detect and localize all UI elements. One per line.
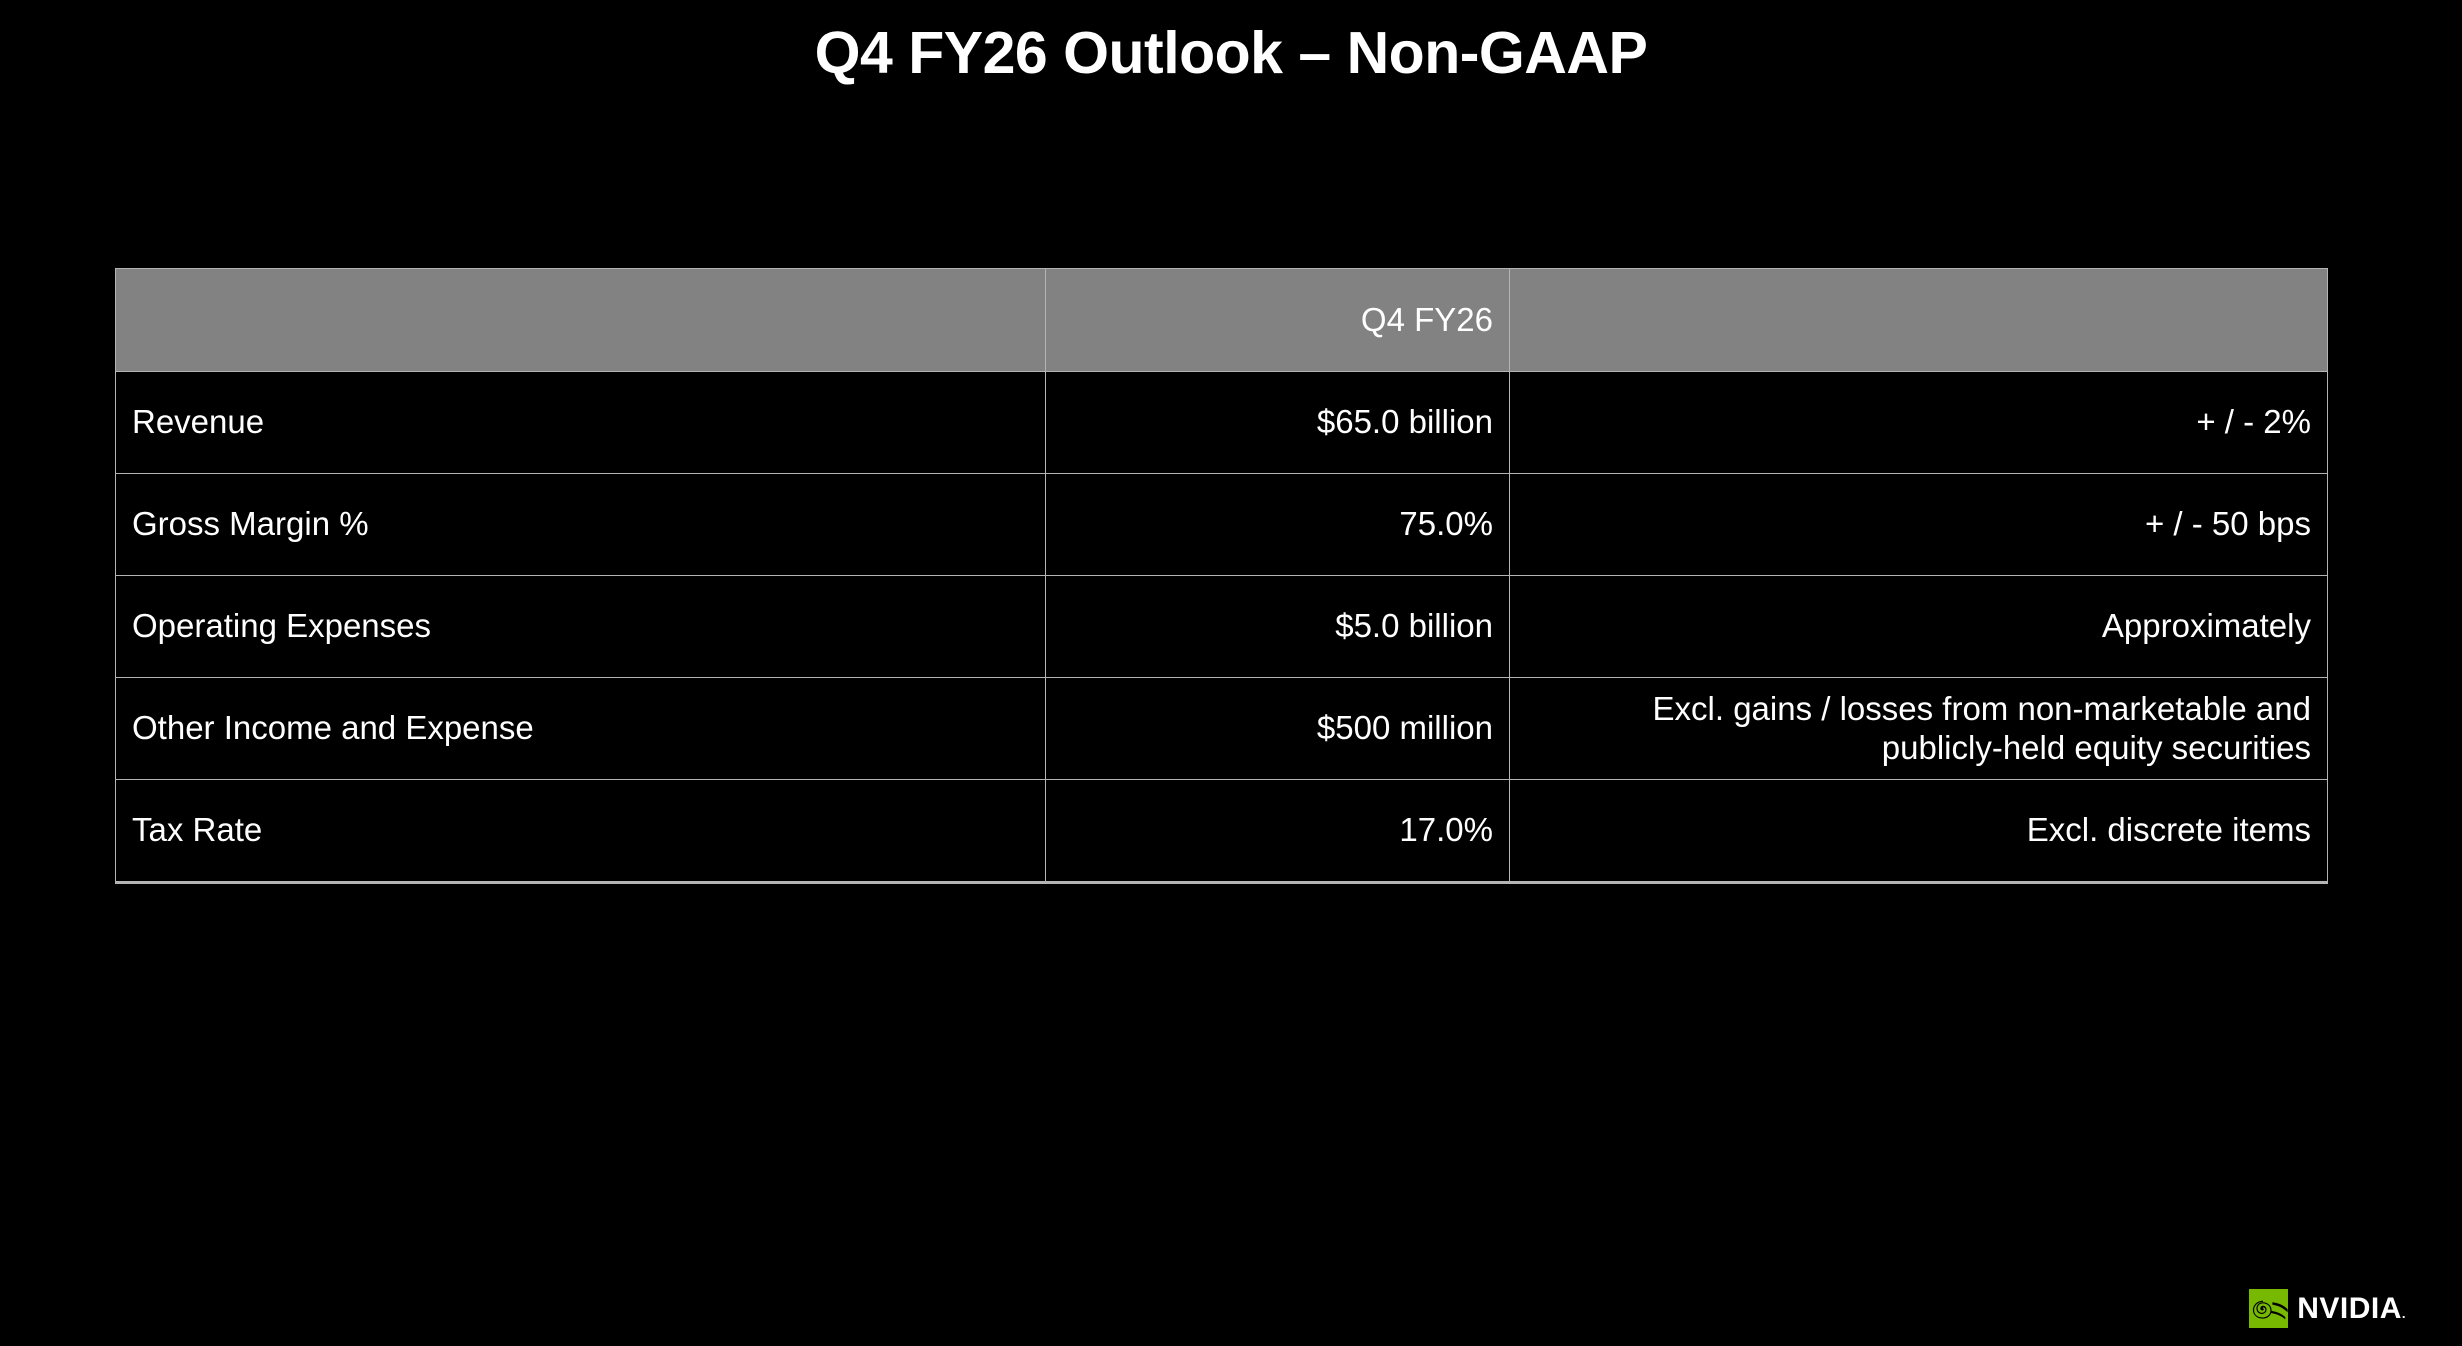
table-header-row: Q4 FY26 xyxy=(116,269,2328,372)
row-note-tax-rate: Excl. discrete items xyxy=(1510,780,2328,883)
nvidia-wordmark: NVIDIA. xyxy=(2297,1294,2406,1324)
row-note-line-1: Excl. gains / losses from non-marketable… xyxy=(1526,690,2311,729)
row-note-gross-margin: + / - 50 bps xyxy=(1510,474,2328,576)
row-value-tax-rate: 17.0% xyxy=(1046,780,1510,883)
row-label-operating-expenses: Operating Expenses xyxy=(116,576,1046,678)
row-note-line-1: Excl. discrete items xyxy=(1526,811,2311,850)
table-row: Revenue $65.0 billion + / - 2% xyxy=(116,372,2328,474)
table-row: Tax Rate 17.0% Excl. discrete items xyxy=(116,780,2328,883)
nvidia-wordmark-text: NVIDIA xyxy=(2297,1292,2402,1325)
table-body: Revenue $65.0 billion + / - 2% Gross Mar… xyxy=(116,372,2328,883)
row-label-other-income-and-expense: Other Income and Expense xyxy=(116,678,1046,780)
row-value-revenue: $65.0 billion xyxy=(1046,372,1510,474)
table-row: Gross Margin % 75.0% + / - 50 bps xyxy=(116,474,2328,576)
table-head: Q4 FY26 xyxy=(116,269,2328,372)
row-note-operating-expenses: Approximately xyxy=(1510,576,2328,678)
column-header-note xyxy=(1510,269,2328,372)
column-header-metric xyxy=(116,269,1046,372)
table-row: Other Income and Expense $500 million Ex… xyxy=(116,678,2328,780)
row-value-gross-margin: 75.0% xyxy=(1046,474,1510,576)
row-value-operating-expenses: $5.0 billion xyxy=(1046,576,1510,678)
nvidia-logo: NVIDIA. xyxy=(2249,1289,2406,1328)
row-note-revenue: + / - 2% xyxy=(1510,372,2328,474)
row-label-gross-margin: Gross Margin % xyxy=(116,474,1046,576)
row-label-tax-rate: Tax Rate xyxy=(116,780,1046,883)
outlook-table-container: Q4 FY26 Revenue $65.0 billion + / - 2% G… xyxy=(115,268,2327,884)
nvidia-eye-icon xyxy=(2249,1289,2288,1328)
row-value-other-income-and-expense: $500 million xyxy=(1046,678,1510,780)
column-header-period: Q4 FY26 xyxy=(1046,269,1510,372)
row-note-line-2: publicly-held equity securities xyxy=(1526,729,2311,768)
page-title: Q4 FY26 Outlook – Non-GAAP xyxy=(0,18,2462,89)
row-note-line-1: + / - 50 bps xyxy=(1526,505,2311,544)
row-note-line-1: Approximately xyxy=(1526,607,2311,646)
q4-fy26-outlook-table: Q4 FY26 Revenue $65.0 billion + / - 2% G… xyxy=(115,268,2328,884)
table-row: Operating Expenses $5.0 billion Approxim… xyxy=(116,576,2328,678)
row-note-other-income-and-expense: Excl. gains / losses from non-marketable… xyxy=(1510,678,2328,780)
row-label-revenue: Revenue xyxy=(116,372,1046,474)
row-note-line-1: + / - 2% xyxy=(1526,403,2311,442)
nvidia-trademark: . xyxy=(2402,1306,2406,1321)
